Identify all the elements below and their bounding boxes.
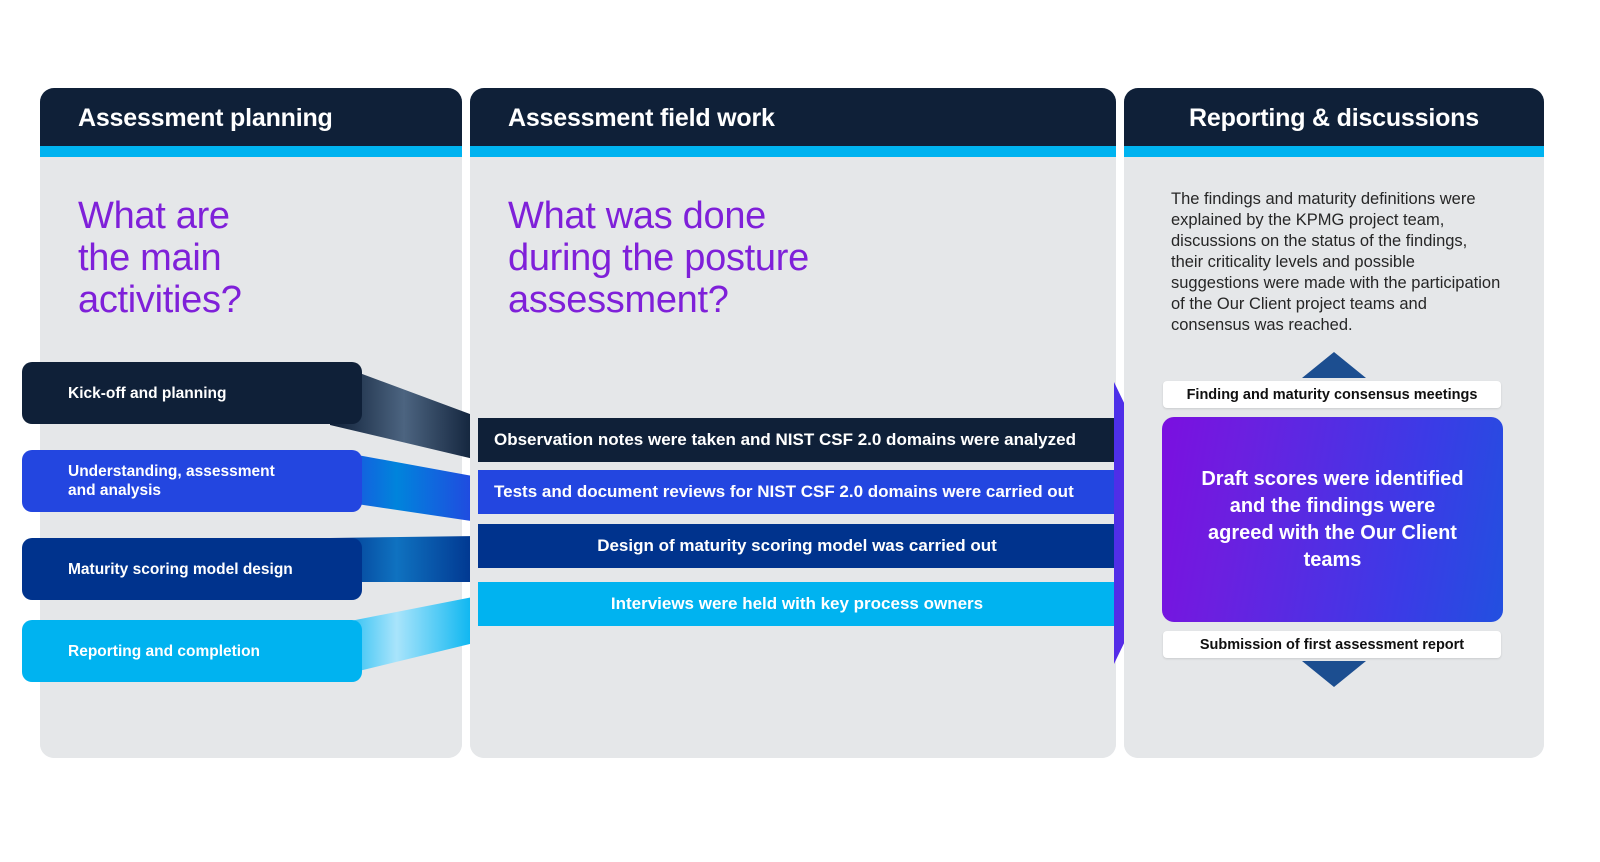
- panel-accent-rule: [1124, 146, 1544, 157]
- step-reporting-and-completion[interactable]: Reporting and completion: [22, 620, 362, 682]
- triangle-down-icon: [1302, 661, 1366, 687]
- panel-accent-rule: [40, 146, 462, 157]
- step-label: Maturity scoring model design: [68, 538, 293, 600]
- bar-label: Interviews were held with key process ow…: [611, 594, 983, 614]
- panel-accent-rule: [470, 146, 1116, 157]
- reporting-paragraph: The findings and maturity definitions we…: [1171, 189, 1501, 336]
- wlabel-text: Finding and maturity consensus meetings: [1187, 387, 1478, 403]
- bar-label: Tests and document reviews for NIST CSF …: [494, 482, 1074, 502]
- field-work-bar-maturity-scoring-model[interactable]: Design of maturity scoring model was car…: [478, 524, 1116, 568]
- panel-title: Reporting & discussions: [1124, 104, 1544, 133]
- field-work-bar-observation-notes[interactable]: Observation notes were taken and NIST CS…: [478, 418, 1132, 462]
- panel-question: What are the main activities?: [78, 195, 418, 321]
- triangle-up-icon: [1302, 352, 1366, 378]
- field-work-bar-interviews[interactable]: Interviews were held with key process ow…: [478, 582, 1116, 626]
- highlight-draft-scores[interactable]: Draft scores were identified and the fin…: [1162, 417, 1503, 622]
- bar-label: Design of maturity scoring model was car…: [597, 536, 997, 556]
- label-submission-of-first-assessment-report[interactable]: Submission of first assessment report: [1163, 631, 1501, 658]
- step-label: Kick-off and planning: [68, 362, 226, 424]
- step-understanding-assessment-and-analysis[interactable]: Understanding, assessment and analysis: [22, 450, 362, 512]
- step-label: Reporting and completion: [68, 620, 260, 682]
- step-label: Understanding, assessment and analysis: [68, 450, 275, 512]
- wlabel-text: Submission of first assessment report: [1200, 637, 1464, 653]
- panel-title: Assessment planning: [78, 104, 333, 133]
- label-finding-and-maturity-consensus-meetings[interactable]: Finding and maturity consensus meetings: [1163, 381, 1501, 408]
- panel-title: Assessment field work: [508, 104, 775, 133]
- step-kick-off-and-planning[interactable]: Kick-off and planning: [22, 362, 362, 424]
- bar-label: Observation notes were taken and NIST CS…: [494, 430, 1076, 450]
- highlight-text: Draft scores were identified and the fin…: [1201, 466, 1463, 574]
- step-maturity-scoring-model-design[interactable]: Maturity scoring model design: [22, 538, 362, 600]
- panel-question: What was done during the posture assessm…: [508, 195, 1068, 321]
- field-work-bar-tests-and-document-reviews[interactable]: Tests and document reviews for NIST CSF …: [478, 470, 1132, 514]
- diagram-canvas: Assessment planning What are the main ac…: [0, 0, 1600, 862]
